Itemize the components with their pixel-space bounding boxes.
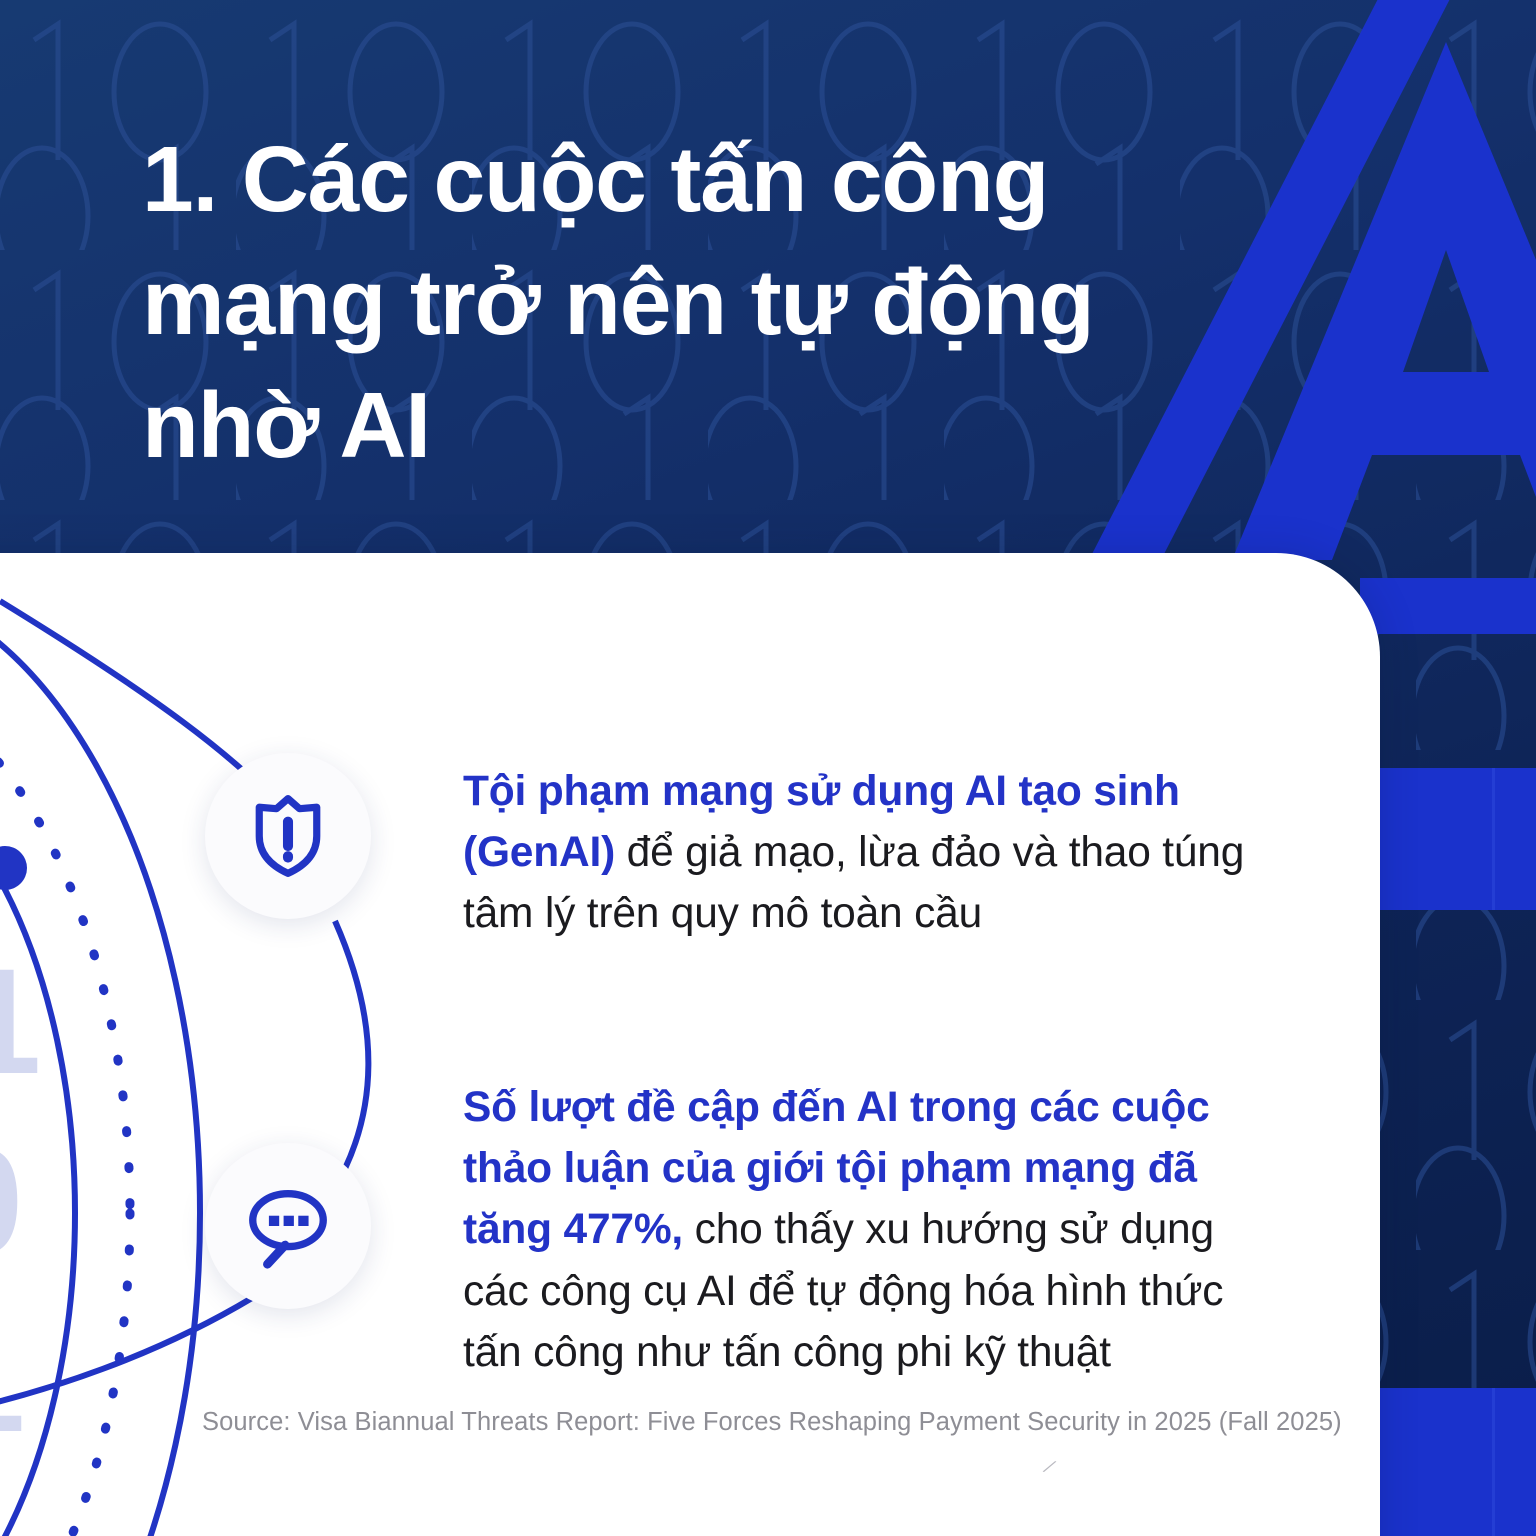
svg-text:1: 1 [0, 1295, 25, 1463]
bullet-item: Tội phạm mạng sử dụng AI tạo sinh (GenAI… [463, 761, 1283, 945]
infographic-slide: 1. Các cuộc tấn công mạng trở nên tự độn… [0, 0, 1536, 1536]
bullet-item: Số lượt đề cập đến AI trong các cuộc thả… [463, 1077, 1283, 1383]
orbit-node-dot [0, 846, 27, 890]
orbit-graphic: 1 0 1 1 0 0 1 [0, 553, 500, 1536]
source-attribution: Source: Visa Biannual Threats Report: Fi… [202, 1408, 1342, 1437]
shield-alert-icon [242, 790, 334, 882]
svg-text:0: 0 [0, 1117, 23, 1285]
stray-mark: ⁄ [1047, 1457, 1063, 1476]
page-title: 1. Các cuộc tấn công mạng trở nên tự độn… [142, 118, 1122, 486]
content-card: 1 0 1 1 0 0 1 [0, 553, 1380, 1536]
shield-alert-badge [205, 753, 371, 919]
chat-bubble-dots-icon [241, 1179, 335, 1273]
header: 1. Các cuộc tấn công mạng trở nên tự độn… [142, 118, 1122, 486]
bullet-list: Tội phạm mạng sử dụng AI tạo sinh (GenAI… [463, 718, 1283, 1426]
svg-text:1: 1 [0, 937, 41, 1105]
chat-bubble-dots-badge [205, 1143, 371, 1309]
